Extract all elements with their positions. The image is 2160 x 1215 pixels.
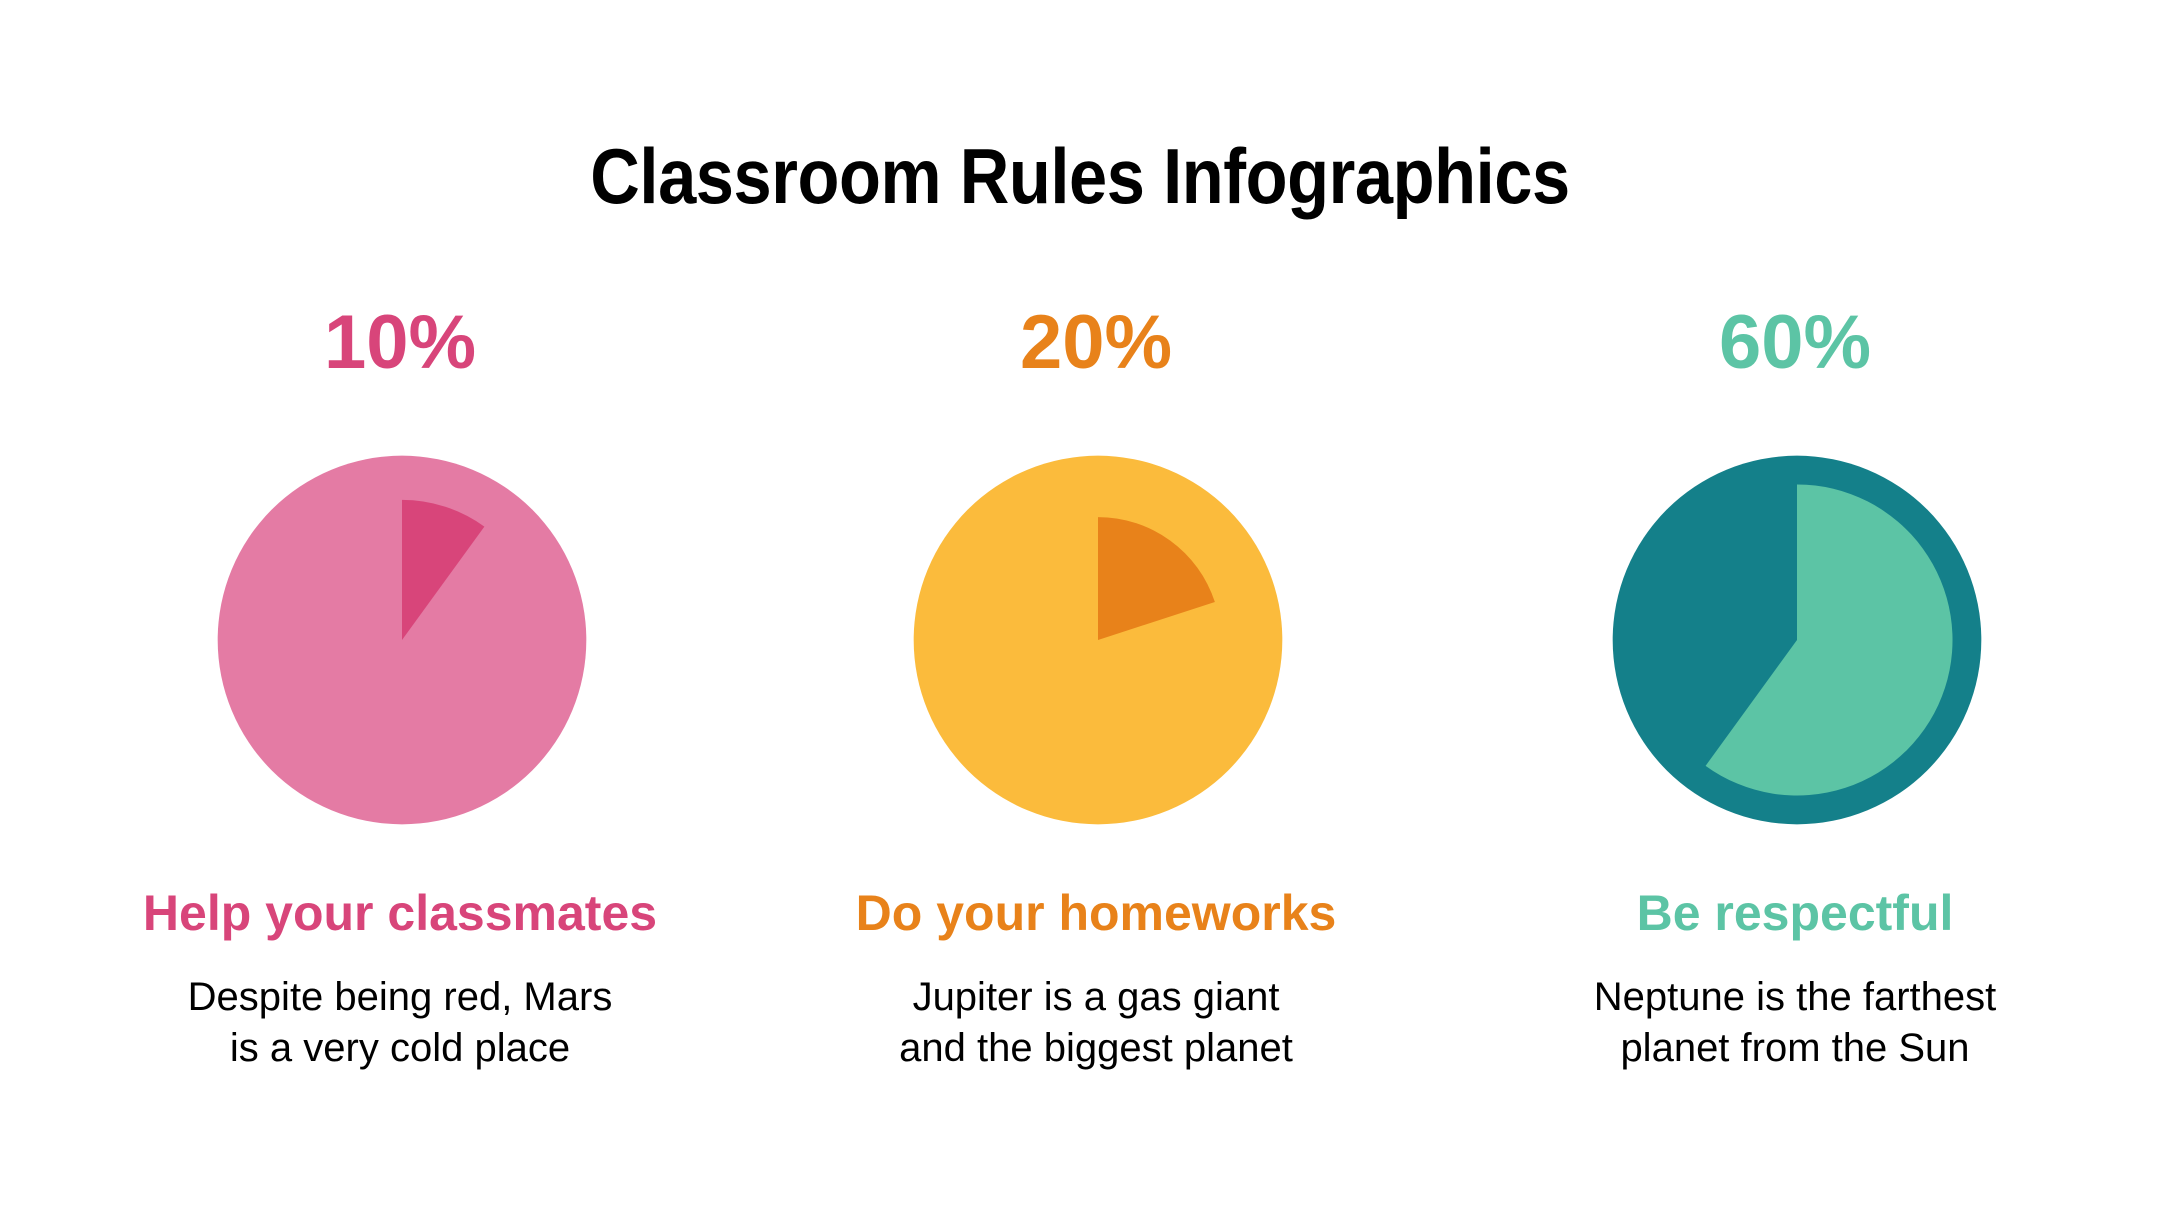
percentage-label-1: 10% bbox=[120, 305, 680, 381]
percentage-label-3: 60% bbox=[1515, 305, 2075, 381]
infographic-slide: Classroom Rules Infographics 10% Help yo… bbox=[0, 0, 2160, 1215]
rule-column-2: 20% Do your homeworks Jupiter is a gas g… bbox=[816, 0, 1376, 1215]
pie-chart-3-svg bbox=[1605, 448, 1989, 832]
rule-heading-3: Be respectful bbox=[1515, 885, 2075, 941]
pie-chart-2-svg bbox=[906, 448, 1290, 832]
pie-chart-1 bbox=[210, 448, 594, 832]
rule-column-1: 10% Help your classmates Despite being r… bbox=[120, 0, 680, 1215]
rule-description-1: Despite being red, Mars is a very cold p… bbox=[120, 972, 680, 1074]
rule-heading-1: Help your classmates bbox=[120, 885, 680, 941]
pie-chart-2 bbox=[906, 448, 1290, 832]
pie-chart-1-svg bbox=[210, 448, 594, 832]
rule-heading-2: Do your homeworks bbox=[816, 885, 1376, 941]
rule-column-3: 60% Be respectful Neptune is the farthes… bbox=[1515, 0, 2075, 1215]
rule-description-3: Neptune is the farthest planet from the … bbox=[1515, 972, 2075, 1074]
percentage-label-2: 20% bbox=[816, 305, 1376, 381]
rule-description-2: Jupiter is a gas giant and the biggest p… bbox=[816, 972, 1376, 1074]
pie-chart-3 bbox=[1605, 448, 1989, 832]
